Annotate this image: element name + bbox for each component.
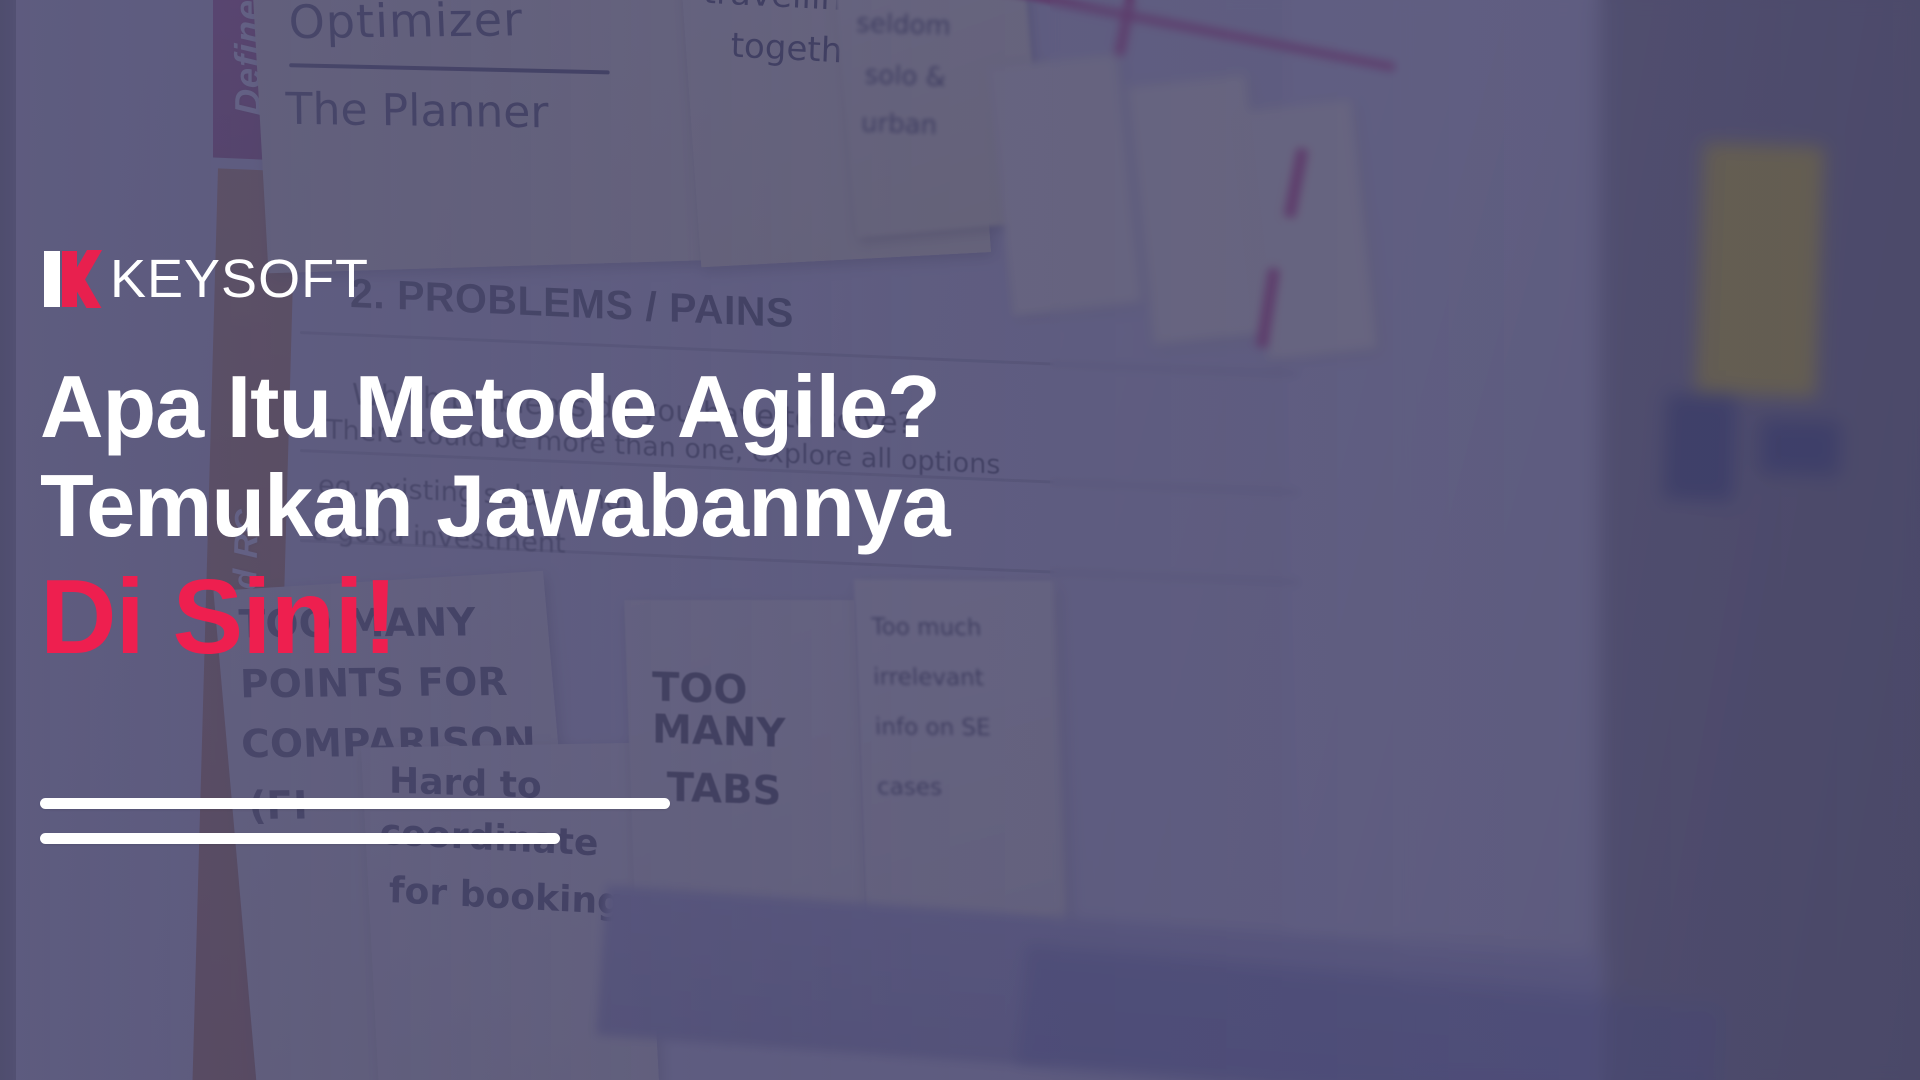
underline-decoration bbox=[40, 798, 670, 844]
headline-accent-line: Di Sini! bbox=[40, 563, 1340, 671]
keysoft-k-monogram-icon bbox=[44, 251, 106, 307]
banner-stage: Define Understand RC 2. PROBLEMS / PAINS… bbox=[0, 0, 1920, 1080]
headline-line-2: Temukan Jawabannya bbox=[40, 457, 1340, 556]
underline-bar-primary bbox=[40, 798, 670, 809]
headline-block: Apa Itu Metode Agile? Temukan Jawabannya… bbox=[40, 358, 1340, 671]
banner-content: KEYSOFT Apa Itu Metode Agile? Temukan Ja… bbox=[0, 0, 1920, 1080]
logo-wordmark: KEYSOFT bbox=[110, 252, 369, 306]
underline-bar-secondary bbox=[40, 833, 560, 844]
keysoft-logo[interactable]: KEYSOFT bbox=[44, 250, 369, 308]
headline-line-1: Apa Itu Metode Agile? bbox=[40, 358, 1340, 457]
